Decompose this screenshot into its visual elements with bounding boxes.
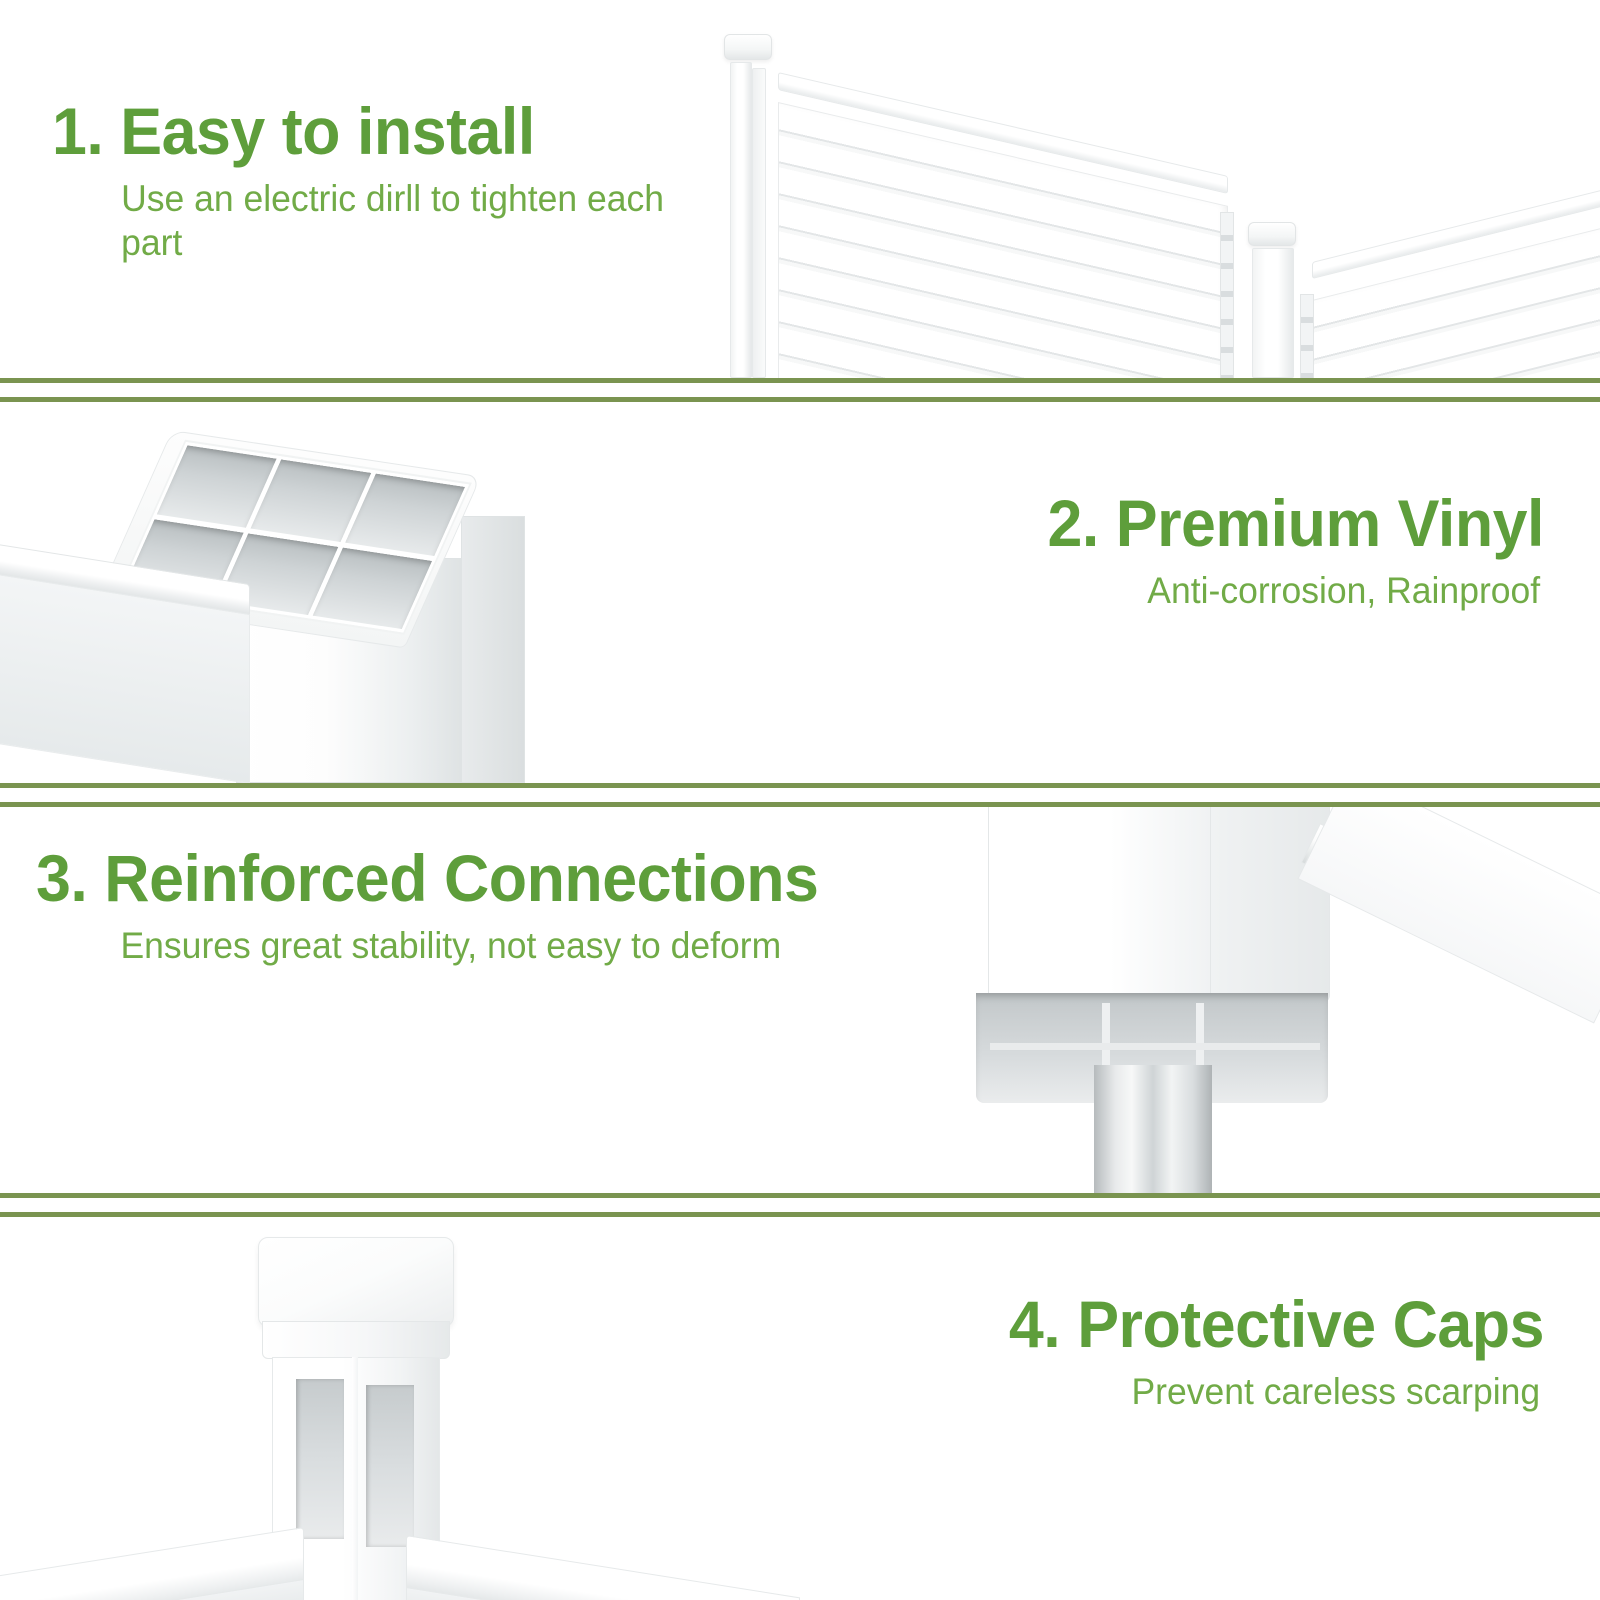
post-cap-center [1248,222,1296,246]
post-corner-edge [352,1357,358,1600]
post-cross-section-illustration [0,408,580,783]
fence-panel-right-edge [1300,294,1314,378]
metal-reinforcement-insert [1094,1065,1212,1193]
connected-panel-diagonal [1297,807,1600,1024]
fence-post-center [1252,248,1294,378]
corner-rail-right [406,1535,800,1600]
post-cap-left [724,34,772,60]
protective-post-cap [258,1237,454,1327]
feature-3-text: 3. Reinforced Connections Ensures great … [36,845,896,968]
feature-2-text: 2. Premium Vinyl Anti-corrosion, Rainpro… [784,490,1544,613]
feature-section-4: 4. Protective Caps Prevent careless scar… [0,1217,1600,1600]
fence-slat-panel-right [1312,225,1600,378]
post-cap-skirt [262,1321,450,1359]
feature-4-text: 4. Protective Caps Prevent careless scar… [744,1291,1544,1414]
protective-cap-illustration [0,1217,800,1600]
fence-panel-left-edge [1220,212,1234,378]
rail-slot-left [296,1379,344,1539]
feature-4-heading: 4. Protective Caps [784,1291,1544,1358]
fence-slat-panel-left [778,102,1228,378]
feature-section-1: 1. Easy to install Use an electric dirll… [0,0,1600,378]
rail-slot-right [366,1385,414,1547]
fence-panel-illustration [700,0,1600,378]
divider-1 [0,378,1600,402]
fence-post-left-flange [752,68,766,378]
feature-section-2: 2. Premium Vinyl Anti-corrosion, Rainpro… [0,402,1600,783]
feature-2-heading: 2. Premium Vinyl [822,490,1544,557]
reinforced-connection-illustration [880,807,1600,1193]
feature-1-text: 1. Easy to install Use an electric dirll… [52,98,692,265]
divider-2 [0,783,1600,807]
divider-1-rule-top [0,378,1600,383]
infographic-page: 1. Easy to install Use an electric dirll… [0,0,1600,1600]
post-side-face [461,516,525,783]
feature-2-subheading: Anti-corrosion, Rainproof [814,569,1544,613]
cavity-rib [990,1043,1320,1050]
feature-3-subheading: Ensures great stability, not easy to def… [36,924,862,968]
feature-section-3: 3. Reinforced Connections Ensures great … [0,807,1600,1193]
feature-3-heading: 3. Reinforced Connections [36,845,853,912]
feature-1-subheading: Use an electric dirll to tighten each pa… [52,177,666,264]
feature-4-subheading: Prevent careless scarping [776,1370,1544,1414]
fence-post-left [730,62,752,378]
feature-1-heading: 1. Easy to install [52,98,660,165]
divider-3 [0,1193,1600,1217]
divider-2-rule-top [0,783,1600,788]
divider-3-rule-top [0,1193,1600,1198]
